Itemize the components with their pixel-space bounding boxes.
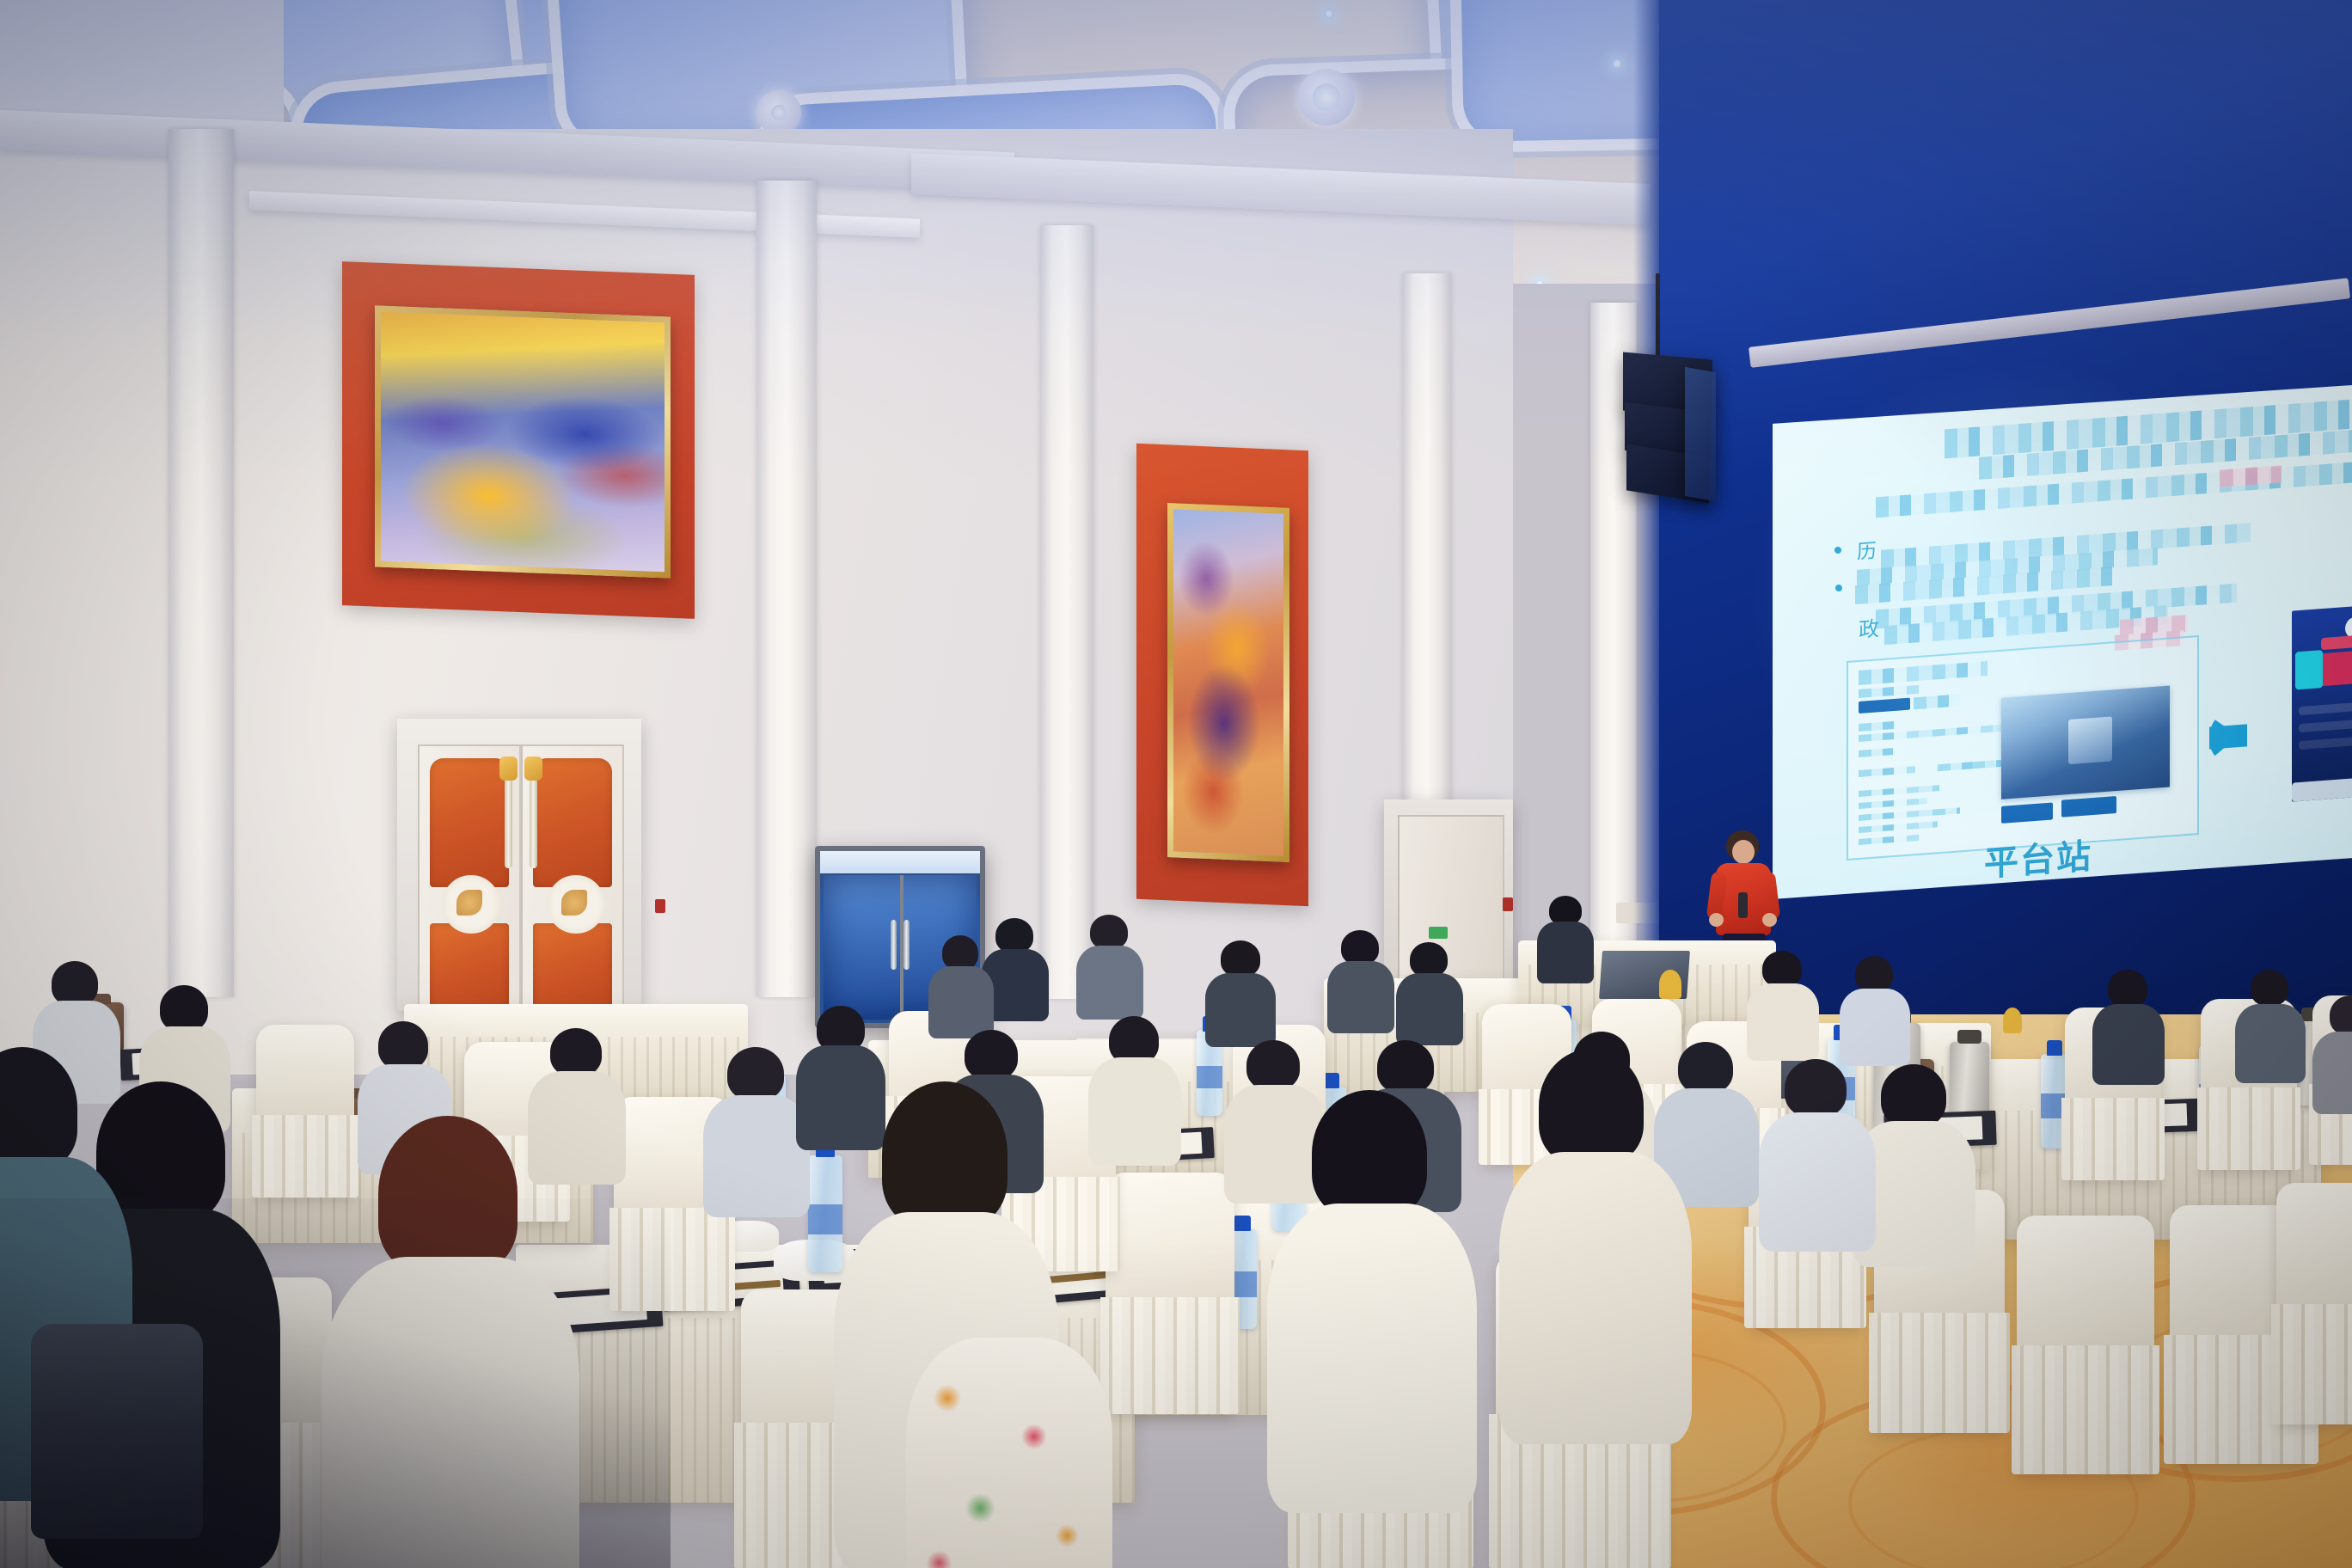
- mobile-app-screenshot: [2292, 603, 2352, 801]
- slide-bullet-icon: [1834, 547, 1841, 554]
- banquet-chair: [256, 1025, 354, 1197]
- cooler-handle[interactable]: [903, 920, 910, 970]
- conference-hall-photo: 历 政: [0, 0, 2352, 1568]
- water-bottle: [808, 1155, 842, 1272]
- slide-bullet-char-1: 历: [1857, 534, 1878, 565]
- redacted-card-line: [1859, 798, 1927, 809]
- app-tile: [2295, 650, 2323, 689]
- app-badge: [2321, 635, 2352, 650]
- app-footer-bar: [2292, 775, 2352, 801]
- redacted-card-line: [1859, 807, 1960, 821]
- redacted-card-line: [1972, 760, 2001, 769]
- fire-alarm-icon: [655, 899, 665, 913]
- card-button[interactable]: [2061, 796, 2116, 818]
- redacted-card-line: [1859, 785, 1939, 797]
- ceiling-rosette: [1298, 69, 1355, 126]
- door-medallion-icon: [442, 875, 500, 934]
- cooler-header-panel: [820, 851, 980, 873]
- slide-bullet-icon: [1835, 585, 1842, 591]
- ballroom-door-right[interactable]: [521, 744, 624, 1014]
- painting-abstract-landscape: [375, 305, 671, 578]
- redacted-card-line: [1859, 721, 1896, 732]
- emergency-exit-icon: [1429, 927, 1448, 939]
- bottle-cap: [1234, 1216, 1250, 1231]
- redacted-card-line: [1859, 821, 1938, 833]
- card-badge: [1859, 698, 1910, 714]
- redacted-card-line: [1859, 748, 1893, 757]
- ballroom-door-left[interactable]: [418, 744, 521, 1014]
- ceiling-downlight: [1324, 9, 1334, 19]
- ceiling-downlight: [1534, 279, 1545, 284]
- redacted-card-line: [1859, 766, 1915, 777]
- presenter-face: [1732, 840, 1755, 864]
- table-sign: [1659, 970, 1681, 999]
- presenter-hand-left: [1709, 913, 1724, 927]
- wall-pilaster: [168, 129, 234, 997]
- redacted-card-heading: [1859, 661, 1988, 685]
- banquet-chair: [1106, 1173, 1234, 1413]
- backpack: [31, 1324, 203, 1539]
- slide-caption: 平台站: [1984, 828, 2092, 885]
- card-button[interactable]: [2001, 802, 2053, 823]
- microphone-icon: [1738, 892, 1748, 918]
- patterned-blouse: [906, 1338, 1112, 1568]
- door-handle-right[interactable]: [530, 775, 537, 868]
- door-handle-left[interactable]: [505, 775, 512, 868]
- app-banner: [2318, 647, 2352, 686]
- banquet-chair: [2017, 1216, 2154, 1473]
- table-sign: [2003, 1008, 2022, 1033]
- redacted-card-line: [1859, 685, 1919, 698]
- presenter-hand-right: [1762, 913, 1777, 927]
- projection-screen: 历 政: [1773, 385, 2352, 899]
- app-list-row: [2299, 734, 2352, 750]
- wall-pilaster: [756, 181, 817, 997]
- painting-abstract-figure: [1167, 503, 1289, 862]
- slide-bullet-char-2: 政: [1859, 611, 1881, 643]
- redacted-card-line: [1914, 694, 1960, 709]
- app-list-row: [2299, 700, 2352, 715]
- fire-alarm-icon: [1503, 897, 1513, 911]
- bottle-cap: [2047, 1040, 2062, 1056]
- cooler-handle[interactable]: [891, 920, 897, 970]
- wall-pilaster: [1040, 225, 1093, 999]
- door-medallion-icon: [547, 875, 605, 934]
- arrow-right-icon: [2209, 724, 2247, 749]
- card-thumbnail-photo: [2001, 685, 2170, 799]
- app-list-row: [2299, 718, 2352, 732]
- ceiling-downlight: [1612, 58, 1622, 69]
- redacted-card-line: [1859, 835, 1919, 845]
- slide-screenshot-card: [1847, 635, 2199, 861]
- banquet-chair: [2276, 1183, 2352, 1424]
